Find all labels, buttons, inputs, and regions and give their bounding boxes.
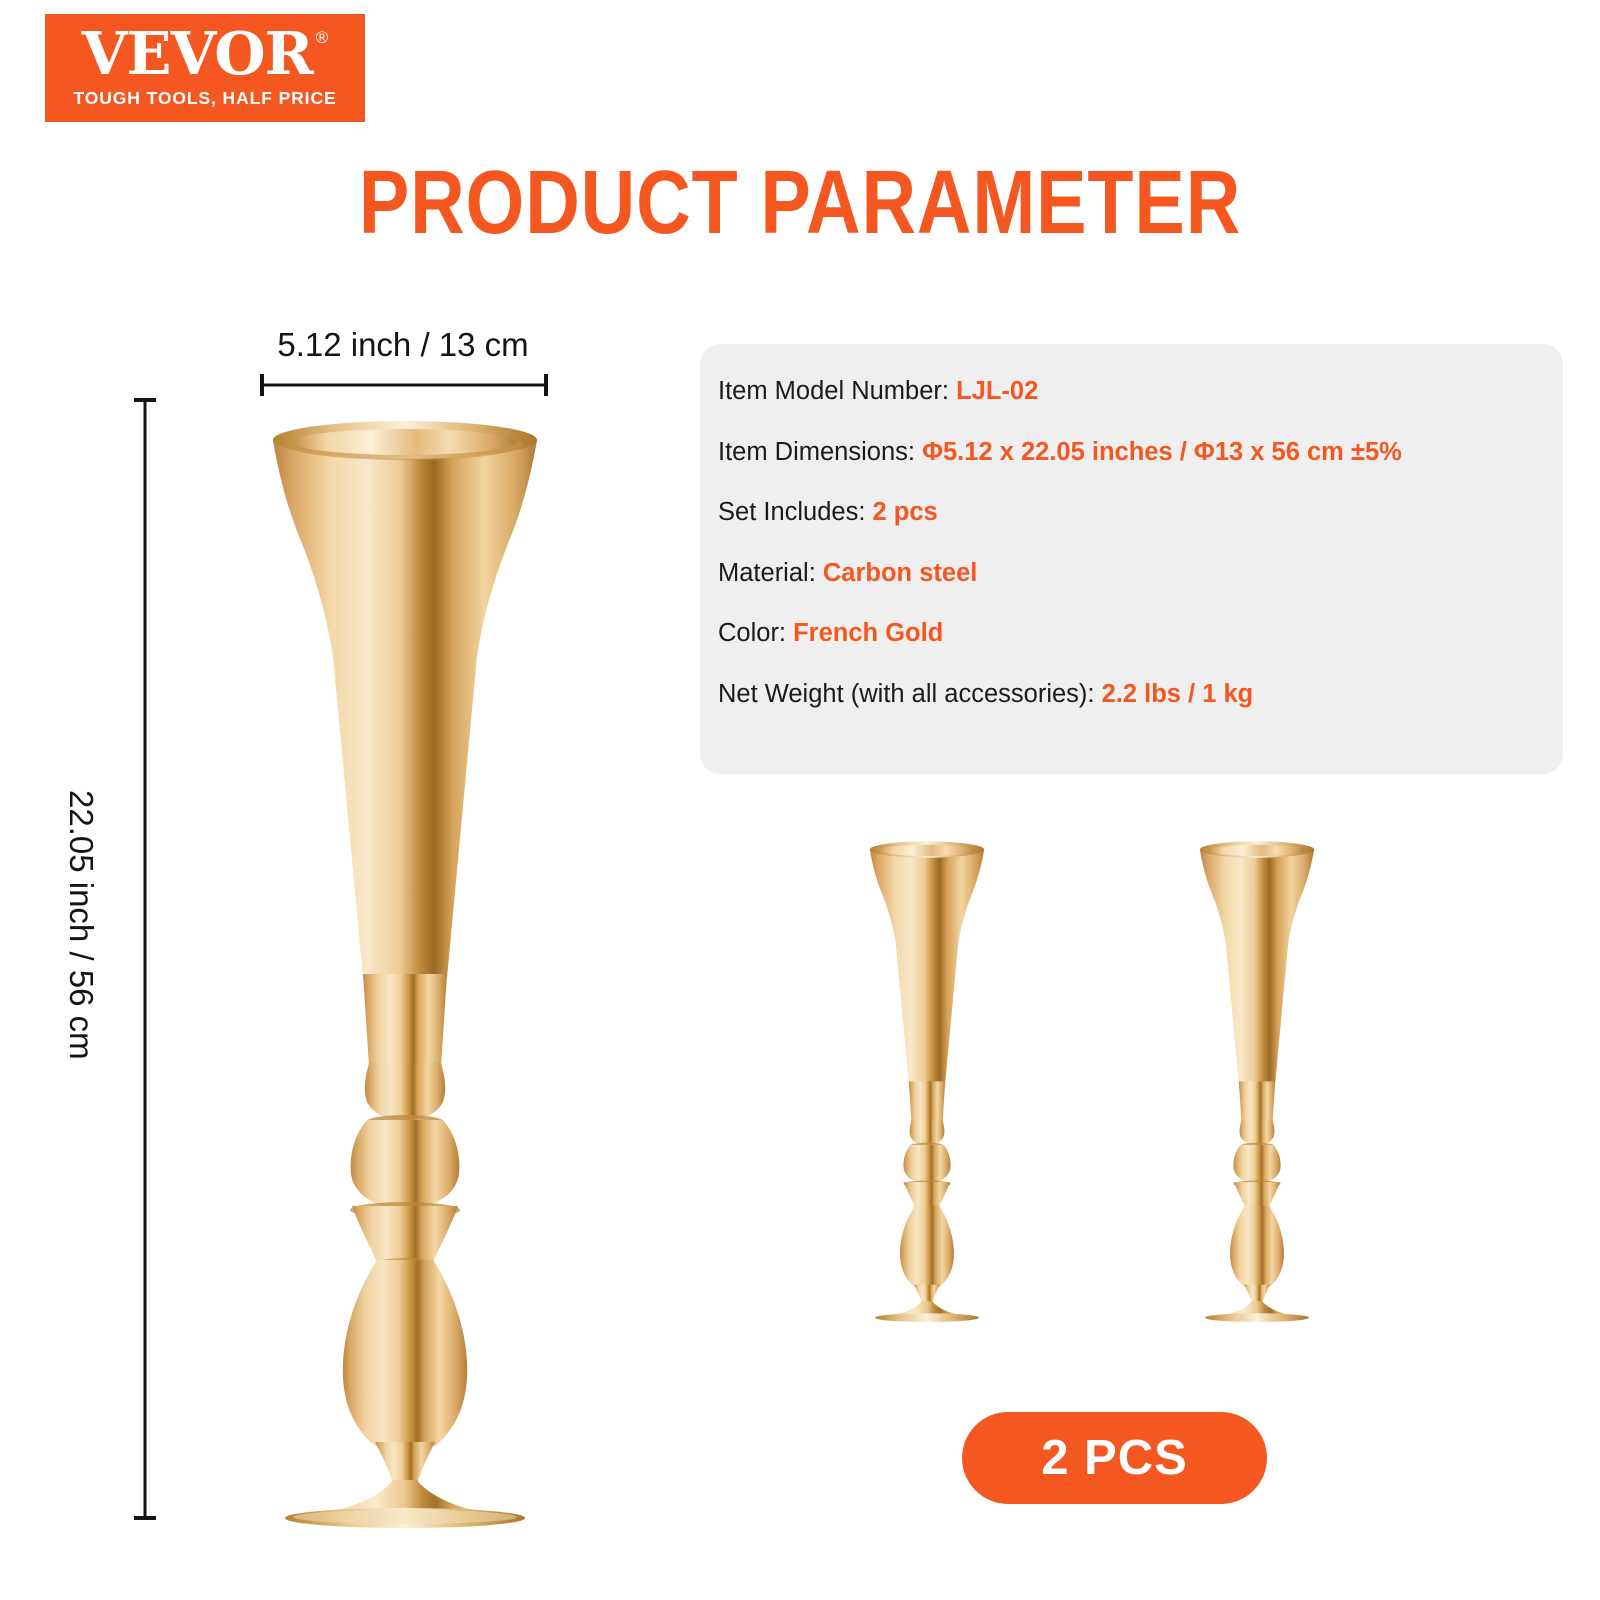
quantity-badge-label: 2 PCS	[1041, 1430, 1188, 1486]
registered-trademark-icon: ®	[316, 29, 329, 46]
vase-cone	[1239, 1081, 1275, 1121]
vase-cup	[1200, 850, 1314, 1084]
spec-value: 2 pcs	[873, 498, 938, 526]
vase-ring-lower	[1234, 1182, 1280, 1206]
spec-value: Φ5.12 x 22.05 inches / Φ13 x 56 cm ±5%	[922, 438, 1402, 466]
vase-base-rim	[1205, 1313, 1309, 1322]
logo-wordmark-row: VEVOR ®	[82, 27, 328, 81]
vase-small-1-group	[870, 841, 984, 1322]
spec-row-model-number: Item Model Number: LJL-02	[718, 376, 1563, 407]
spec-label: Color:	[718, 619, 793, 647]
logo-tagline: TOUGH TOOLS, HALF PRICE	[73, 88, 336, 109]
vase-cup	[273, 440, 537, 978]
vase-small-2-group	[1200, 841, 1314, 1322]
vase-rim-face	[293, 429, 517, 455]
vase-body	[343, 1260, 467, 1446]
height-dimension-line	[133, 398, 157, 1520]
spec-label: Set Includes:	[718, 498, 873, 526]
vase-base-rim-highlight	[293, 1510, 517, 1524]
vase-waist	[1244, 1285, 1270, 1303]
vase-ring-upper	[365, 1063, 445, 1120]
spec-row-item-dimensions: Item Dimensions: Φ5.12 x 22.05 inches / …	[718, 437, 1563, 468]
quantity-badge: 2 PCS	[962, 1412, 1267, 1504]
specification-panel: Item Model Number: LJL-02 Item Dimension…	[700, 344, 1563, 774]
spec-value: French Gold	[793, 619, 943, 647]
logo-wordmark-text: VEVOR	[82, 27, 313, 81]
vase-ring-upper	[1240, 1120, 1275, 1145]
vase-small-product-image-2	[1192, 840, 1322, 1322]
spec-value: LJL-02	[956, 377, 1038, 405]
vevor-logo: VEVOR ® TOUGH TOOLS, HALF PRICE	[45, 14, 365, 122]
width-dimension-line	[260, 373, 548, 397]
page-title: PRODUCT PARAMETER	[128, 152, 1472, 255]
spec-label: Item Model Number:	[718, 377, 956, 405]
spec-row-set-includes: Set Includes: 2 pcs	[718, 497, 1563, 528]
spec-label: Item Dimensions:	[718, 438, 922, 466]
vase-ring-lower	[352, 1206, 458, 1262]
vase-ring-mid	[903, 1145, 950, 1183]
vase-base-rim	[875, 1313, 979, 1322]
spec-label: Material:	[718, 559, 823, 587]
vase-cup	[870, 850, 984, 1084]
vase-rim-face	[878, 845, 975, 856]
spec-value: Carbon steel	[823, 559, 977, 587]
product-parameter-page: VEVOR ® TOUGH TOOLS, HALF PRICE PRODUCT …	[0, 0, 1600, 1600]
specification-list: Item Model Number: LJL-02 Item Dimension…	[718, 376, 1563, 710]
spec-value: 2.2 lbs / 1 kg	[1102, 680, 1254, 708]
vase-body	[900, 1206, 954, 1287]
vase-waist	[375, 1442, 435, 1484]
spec-row-net-weight: Net Weight (with all accessories): 2.2 l…	[718, 679, 1563, 710]
vase-ring-mid	[351, 1120, 460, 1208]
vase-waist	[914, 1285, 940, 1303]
vase-small-product-image-1	[862, 840, 992, 1322]
spec-row-material: Material: Carbon steel	[718, 558, 1563, 589]
vase-main-product-image	[255, 418, 555, 1528]
vase-cone	[363, 974, 447, 1066]
vase-ring-lower	[904, 1182, 950, 1206]
vase-cone	[909, 1081, 945, 1121]
vase-ring-upper	[910, 1120, 945, 1145]
spec-label: Net Weight (with all accessories):	[718, 680, 1102, 708]
width-dimension-label: 5.12 inch / 13 cm	[248, 326, 558, 364]
vase-body	[1230, 1206, 1284, 1287]
spec-row-color: Color: French Gold	[718, 618, 1563, 649]
height-dimension-label: 22.05 inch / 56 cm	[62, 790, 100, 1060]
vase-ring-mid	[1233, 1145, 1280, 1183]
vase-rim-face	[1208, 845, 1305, 856]
